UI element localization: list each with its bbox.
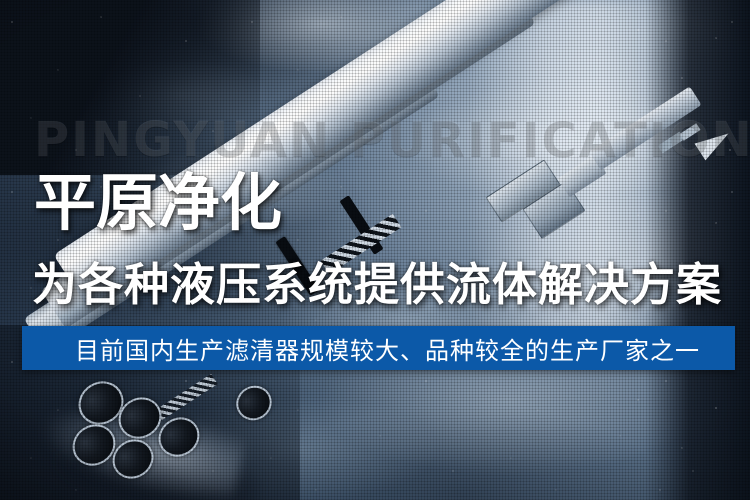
page-title: 平原净化 (34, 172, 282, 234)
page-subtitle: 为各种液压系统提供流体解决方案 (32, 260, 722, 310)
rocket-illustration (0, 0, 750, 500)
hero-banner: PINGYUAN PURIFICATION 平原净化 为各种液压系统提供流体解决… (0, 0, 750, 500)
background-watermark-text: PINGYUAN PURIFICATION (34, 112, 750, 168)
tagline-bar: 目前国内生产滤清器规模较大、品种较全的生产厂家之一 (22, 326, 735, 370)
tagline-text: 目前国内生产滤清器规模较大、品种较全的生产厂家之一 (22, 326, 735, 370)
